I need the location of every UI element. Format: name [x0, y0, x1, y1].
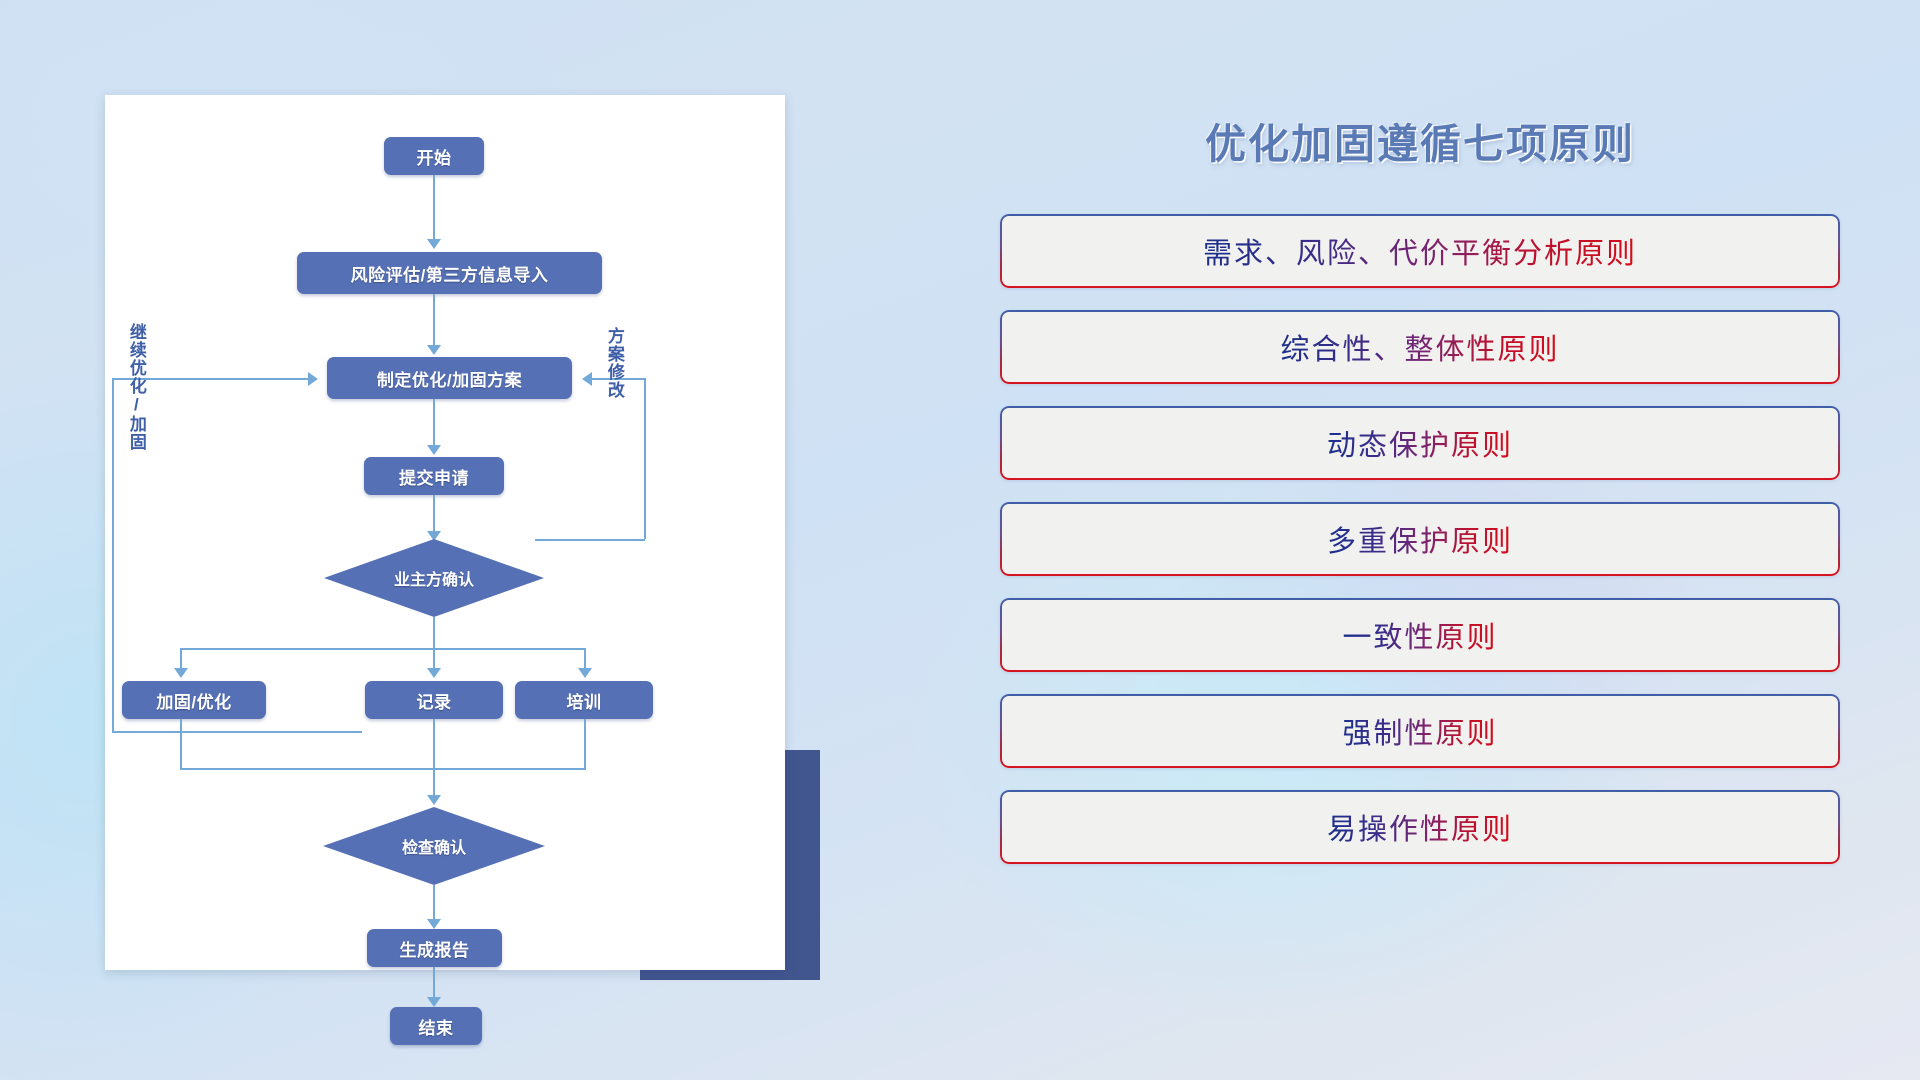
connector-reinforce-down	[180, 719, 182, 770]
flow-edge-label-right: 方案修改	[605, 327, 623, 399]
flow-node-plan[interactable]: 制定优化/加固方案	[327, 357, 572, 399]
principle-item[interactable]: 一致性原则	[1000, 598, 1840, 672]
flow-node-report[interactable]: 生成报告	[367, 929, 502, 967]
flow-node-submit-label: 提交申请	[399, 464, 469, 489]
flow-decision-owner-confirm-label: 业主方确认	[394, 566, 474, 590]
arrowhead-loop-left-into-plan	[308, 372, 318, 386]
principle-label: 需求、风险、代价平衡分析原则	[1203, 230, 1637, 272]
principle-label: 易操作性原则	[1327, 806, 1513, 848]
arrowhead-bus-to-training	[578, 668, 592, 678]
flow-node-end-label: 结束	[419, 1014, 454, 1039]
principle-item[interactable]: 易操作性原则	[1000, 790, 1840, 864]
flow-edge-label-left: 继续优化/加固	[127, 323, 145, 451]
arrowhead-check-to-report	[427, 919, 441, 929]
connector-training-down	[584, 719, 586, 770]
arrowhead-merge-to-check	[427, 795, 441, 805]
slide-canvas: 开始 风险评估/第三方信息导入 制定优化/加固方案 继续优化/加固 方案修改 提…	[0, 0, 1920, 1080]
arrowhead-bus-to-reinforce	[174, 668, 188, 678]
flow-node-report-label: 生成报告	[400, 936, 470, 961]
connector-loop-left-bottom	[112, 731, 362, 733]
principle-label: 综合性、整体性原则	[1280, 326, 1559, 368]
flow-node-risk-assessment[interactable]: 风险评估/第三方信息导入	[297, 252, 602, 294]
principle-label: 强制性原则	[1342, 710, 1497, 752]
arrowhead-start-to-risk	[427, 239, 441, 249]
arrowhead-bus-to-record	[427, 668, 441, 678]
flow-node-end[interactable]: 结束	[390, 1007, 482, 1045]
connector-owner-down	[433, 617, 435, 650]
panel-title: 优化加固遵循七项原则	[1000, 110, 1840, 170]
flow-node-submit[interactable]: 提交申请	[364, 457, 504, 495]
flow-node-reinforce[interactable]: 加固/优化	[122, 681, 266, 719]
flow-node-training-label: 培训	[567, 688, 602, 713]
flow-node-plan-label: 制定优化/加固方案	[377, 366, 522, 391]
flowchart-card: 开始 风险评估/第三方信息导入 制定优化/加固方案 继续优化/加固 方案修改 提…	[105, 95, 785, 970]
principle-label: 一致性原则	[1342, 614, 1497, 656]
flow-decision-check-confirm[interactable]: 检查确认	[323, 807, 545, 885]
principle-item[interactable]: 综合性、整体性原则	[1000, 310, 1840, 384]
principle-item[interactable]: 需求、风险、代价平衡分析原则	[1000, 214, 1840, 288]
principle-item[interactable]: 强制性原则	[1000, 694, 1840, 768]
connector-loop-left-vertical	[112, 378, 114, 731]
flow-decision-owner-confirm[interactable]: 业主方确认	[324, 539, 544, 617]
connector-risk-to-plan	[433, 294, 435, 352]
flow-node-risk-assessment-label: 风险评估/第三方信息导入	[351, 261, 549, 286]
arrowhead-report-to-end	[427, 997, 441, 1007]
connector-merge-to-check	[433, 719, 435, 802]
flow-decision-check-confirm-label: 检查确认	[402, 834, 466, 858]
principle-item[interactable]: 多重保护原则	[1000, 502, 1840, 576]
connector-loop-right-bottom	[535, 539, 645, 541]
flow-node-reinforce-label: 加固/优化	[156, 688, 231, 713]
connector-merge-bus	[180, 768, 586, 770]
flow-node-record-label: 记录	[417, 688, 452, 713]
arrowhead-plan-to-submit	[427, 445, 441, 455]
flow-node-start-label: 开始	[417, 144, 452, 169]
flow-node-start[interactable]: 开始	[384, 137, 484, 175]
principle-label: 动态保护原则	[1327, 422, 1513, 464]
flow-node-training[interactable]: 培训	[515, 681, 653, 719]
connector-start-to-risk	[433, 175, 435, 247]
connector-split-bus	[180, 648, 584, 650]
flow-node-record[interactable]: 记录	[365, 681, 503, 719]
principle-label: 多重保护原则	[1327, 518, 1513, 560]
arrowhead-risk-to-plan	[427, 345, 441, 355]
connector-loop-right-vertical	[644, 378, 646, 539]
principle-item[interactable]: 动态保护原则	[1000, 406, 1840, 480]
principles-panel: 优化加固遵循七项原则 需求、风险、代价平衡分析原则 综合性、整体性原则 动态保护…	[1000, 90, 1840, 1010]
arrowhead-loop-right-into-plan	[582, 372, 592, 386]
